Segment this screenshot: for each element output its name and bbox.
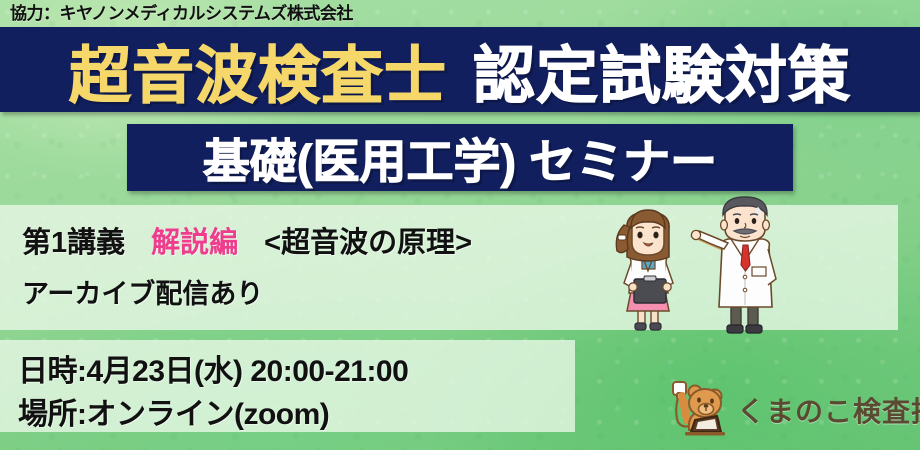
cooperation-credit: 協力：キヤノンメディカルシステムズ株式会社 — [10, 2, 570, 26]
lecture-highlight: 解説編 — [151, 227, 238, 259]
lecture-topic: <超音波の原理> — [264, 227, 472, 259]
title-primary-rest: 認定試験対策 — [473, 25, 851, 115]
characters-illustration — [600, 195, 810, 340]
lecture-line: 第1講義解説編<超音波の原理> — [22, 219, 472, 261]
seminar-poster: 協力：キヤノンメディカルシステムズ株式会社 超音波検査士 認定試験対策 基礎(医… — [0, 0, 920, 450]
title-secondary: 基礎(医用工学) セミナー — [127, 124, 793, 191]
lecture-number: 第1講義 — [22, 227, 125, 259]
brand-name: くまのこ検査技師塾 — [737, 390, 920, 430]
female-student-figure — [616, 210, 673, 330]
bear-with-ultrasound-probe-icon — [665, 376, 733, 444]
title-primary-highlight: 超音波検査士 — [69, 25, 447, 115]
male-doctor-figure — [691, 197, 776, 333]
title-primary: 超音波検査士 認定試験対策 — [0, 27, 920, 112]
place-line: 場所:オンライン(zoom) — [18, 389, 329, 433]
brand-logo: くまのこ検査技師塾 — [665, 376, 915, 446]
title-secondary-label: 基礎(医用工学) セミナー — [203, 123, 717, 192]
datetime-line: 日時:4月23日(水) 20:00-21:00 — [18, 346, 408, 390]
archive-note: アーカイブ配信あり — [22, 272, 263, 311]
